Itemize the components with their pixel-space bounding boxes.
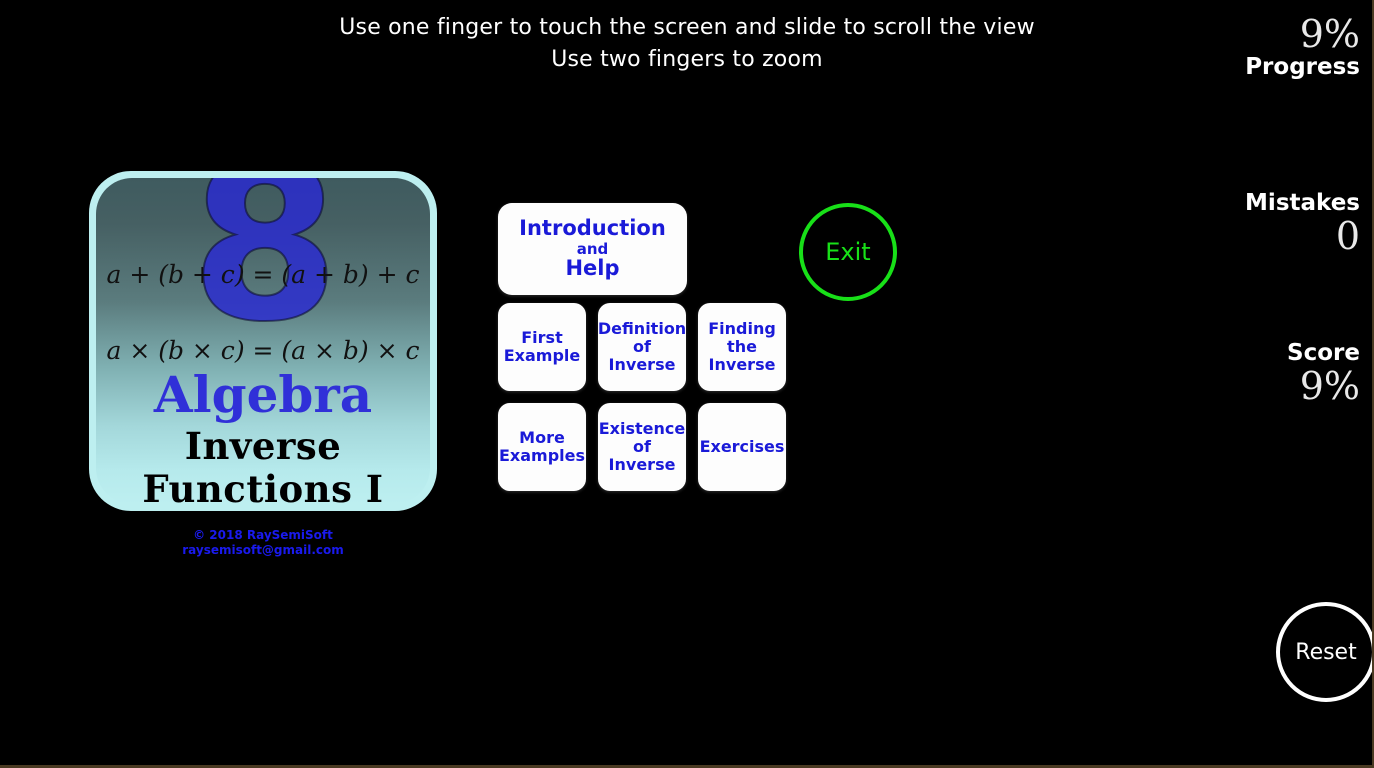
card-subtitle: Inverse Functions I bbox=[96, 425, 430, 504]
instruction-line-1: Use one finger to touch the screen and s… bbox=[0, 12, 1374, 44]
finding-label-line-1: Finding bbox=[708, 320, 776, 338]
mistakes-stat: Mistakes 0 bbox=[1204, 190, 1364, 256]
introduction-label-line-2: and bbox=[577, 241, 609, 258]
definition-label-line-2: of bbox=[633, 338, 651, 356]
copyright-notice: © 2018 RaySemiSoft raysemisoft@gmail.com bbox=[89, 528, 437, 558]
menu-button-definition-of-inverse[interactable]: Definition of Inverse bbox=[598, 303, 686, 391]
copyright-line-1: © 2018 RaySemiSoft bbox=[89, 528, 437, 543]
associative-addition-equation: a + (b + c) = (a + b) + c bbox=[96, 260, 430, 289]
associative-multiplication-equation: a × (b × c) = (a × b) × c bbox=[96, 336, 430, 365]
card-subtitle-line-1: Inverse bbox=[96, 425, 430, 468]
finding-label-line-3: Inverse bbox=[709, 356, 776, 374]
menu-button-existence-of-inverse[interactable]: Existence of Inverse bbox=[598, 403, 686, 491]
progress-label: Progress bbox=[1204, 54, 1364, 80]
progress-value: 9% bbox=[1204, 14, 1364, 54]
existence-label-line-3: Inverse bbox=[609, 456, 676, 474]
mistakes-value: 0 bbox=[1204, 216, 1364, 256]
menu-button-exercises[interactable]: Exercises bbox=[698, 403, 786, 491]
finding-label-line-2: the bbox=[727, 338, 757, 356]
more-examples-label-line-1: More bbox=[519, 429, 565, 447]
reset-button-label: Reset bbox=[1295, 640, 1356, 665]
mistakes-label: Mistakes bbox=[1204, 190, 1364, 216]
existence-label-line-2: of bbox=[633, 438, 651, 456]
card-subtitle-line-2: Functions I bbox=[96, 468, 430, 504]
app-window: Use one finger to touch the screen and s… bbox=[0, 0, 1374, 768]
more-examples-label-line-2: Examples bbox=[499, 447, 585, 465]
menu-button-more-examples[interactable]: More Examples bbox=[498, 403, 586, 491]
menu-button-finding-the-inverse[interactable]: Finding the Inverse bbox=[698, 303, 786, 391]
definition-label-line-1: Definition bbox=[598, 320, 686, 338]
menu-button-first-example[interactable]: First Example bbox=[498, 303, 586, 391]
exercises-label: Exercises bbox=[700, 438, 785, 456]
definition-label-line-3: Inverse bbox=[609, 356, 676, 374]
title-card-inner: 8 a + (b + c) = (a + b) + c a × (b × c) … bbox=[96, 178, 430, 504]
introduction-label-line-3: Help bbox=[565, 257, 619, 281]
copyright-line-2: raysemisoft@gmail.com bbox=[89, 543, 437, 558]
score-value: 9% bbox=[1204, 366, 1364, 406]
introduction-label-line-1: Introduction bbox=[519, 217, 666, 241]
first-example-label-line-2: Example bbox=[504, 347, 581, 365]
gesture-instructions: Use one finger to touch the screen and s… bbox=[0, 12, 1374, 76]
exit-button[interactable]: Exit bbox=[799, 203, 897, 301]
menu-button-introduction-and-help[interactable]: Introduction and Help bbox=[498, 203, 687, 295]
reset-button[interactable]: Reset bbox=[1276, 602, 1374, 702]
first-example-label-line-1: First bbox=[521, 329, 562, 347]
progress-stat: 9% Progress bbox=[1204, 14, 1364, 80]
instruction-line-2: Use two fingers to zoom bbox=[0, 44, 1374, 76]
card-brand-title: Algebra bbox=[96, 368, 430, 422]
exit-button-label: Exit bbox=[825, 238, 870, 266]
score-stat: Score 9% bbox=[1204, 340, 1364, 406]
title-card[interactable]: 8 a + (b + c) = (a + b) + c a × (b × c) … bbox=[89, 171, 437, 511]
existence-label-line-1: Existence bbox=[599, 420, 685, 438]
score-label: Score bbox=[1204, 340, 1364, 366]
